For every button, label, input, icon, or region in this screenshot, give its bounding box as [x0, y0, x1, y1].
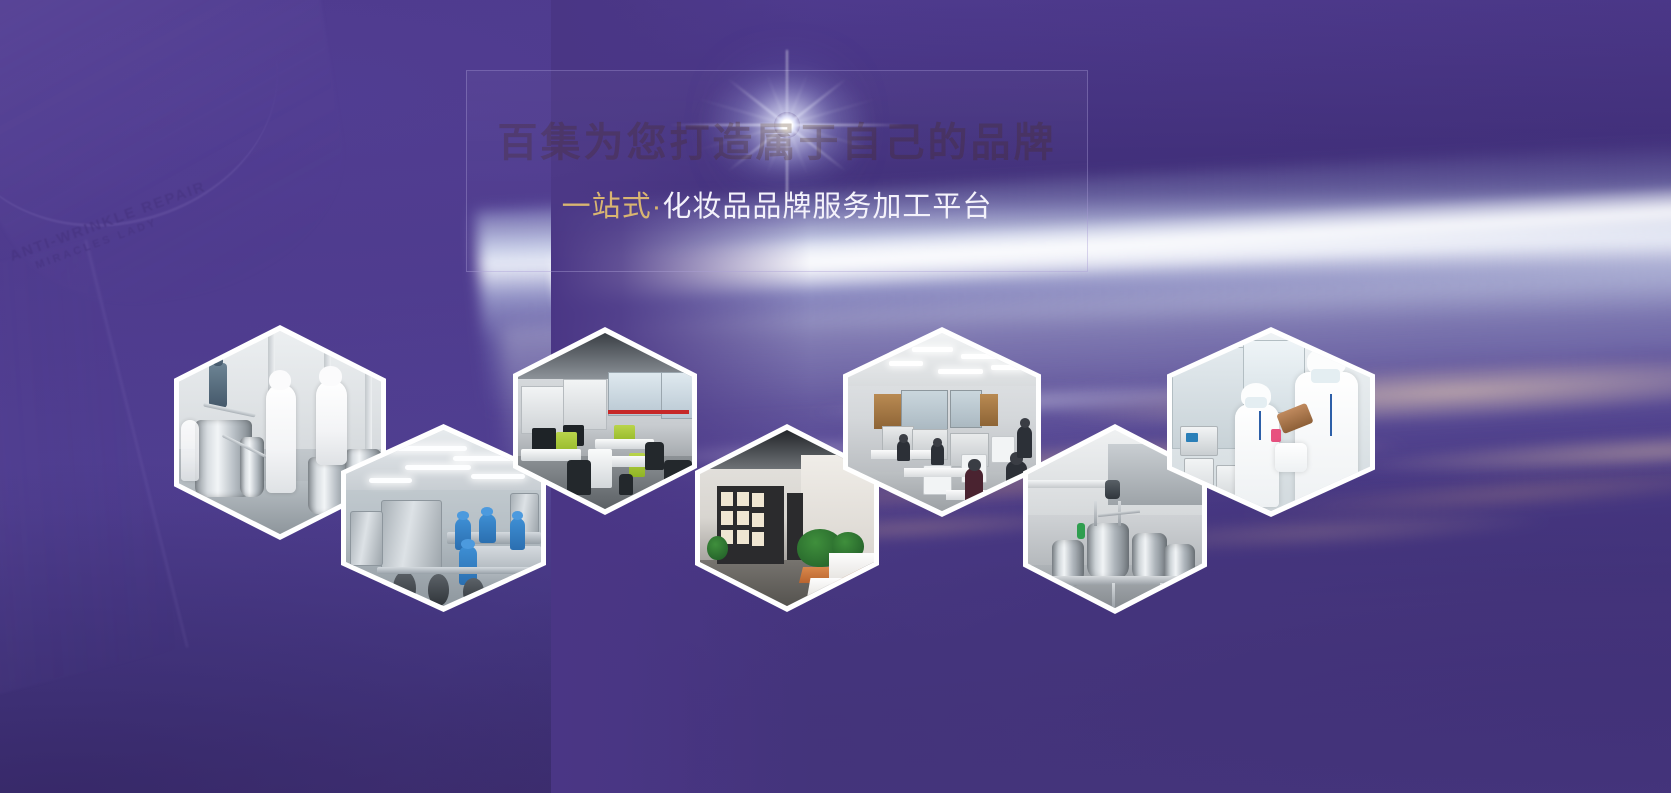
- banner-subtitle: 一站式·化妆品品牌服务加工平台: [466, 193, 1088, 222]
- headline-frame: [466, 70, 1088, 272]
- promo-banner: ANTI-WRINKLE REPAIR MIRACLES LADY NOURIS…: [0, 0, 1671, 793]
- banner-headline: 百集为您打造属于自己的品牌: [466, 122, 1088, 162]
- ghost-tube-shape: [0, 240, 188, 721]
- subtitle-white-part: 化妆品品牌服务加工平台: [662, 191, 992, 223]
- hexagon-image-7[interactable]: [1167, 327, 1375, 517]
- subtitle-gold-part: 一站式·: [562, 191, 663, 223]
- hexagon-image-5[interactable]: [843, 327, 1041, 517]
- hexagon-image-3[interactable]: [513, 327, 697, 515]
